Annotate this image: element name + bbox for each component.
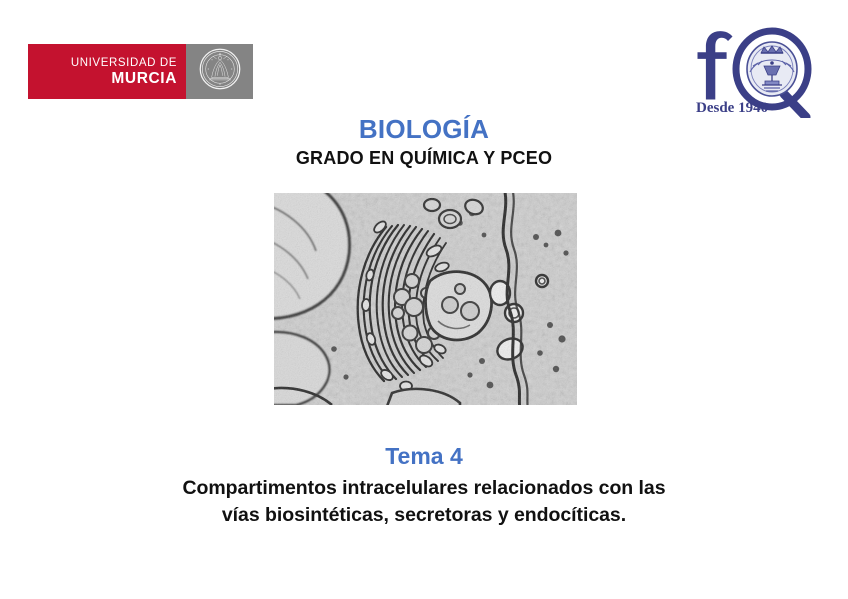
university-seal-icon [199,48,241,95]
presentation-slide: UNIVERSIDAD DE MURCIA [0,0,848,599]
crowned-crest-icon [747,42,797,96]
topic-description-line1: Compartimentos intracelulares relacionad… [183,477,666,499]
um-logo-gray-band [186,44,253,99]
golgi-apparatus-electron-micrograph [274,193,577,405]
topic-description: Compartimentos intracelulares relacionad… [0,475,848,529]
topic-description-line2: vías biosintéticas, secretoras y endocít… [0,502,848,529]
um-logo-red-band: UNIVERSIDAD DE MURCIA [28,44,186,99]
course-title: BIOLOGÍA [0,114,848,144]
fq-letter-f-glyph [698,31,733,99]
um-logo-line1: UNIVERSIDAD DE [71,57,177,70]
topic-number: Tema 4 [0,442,848,470]
facultad-quimica-logo: Desde 1940 [688,22,820,118]
universidad-de-murcia-logo: UNIVERSIDAD DE MURCIA [28,44,253,99]
um-logo-line2: MURCIA [111,70,177,87]
course-subtitle: GRADO EN QUÍMICA Y PCEO [0,147,848,169]
